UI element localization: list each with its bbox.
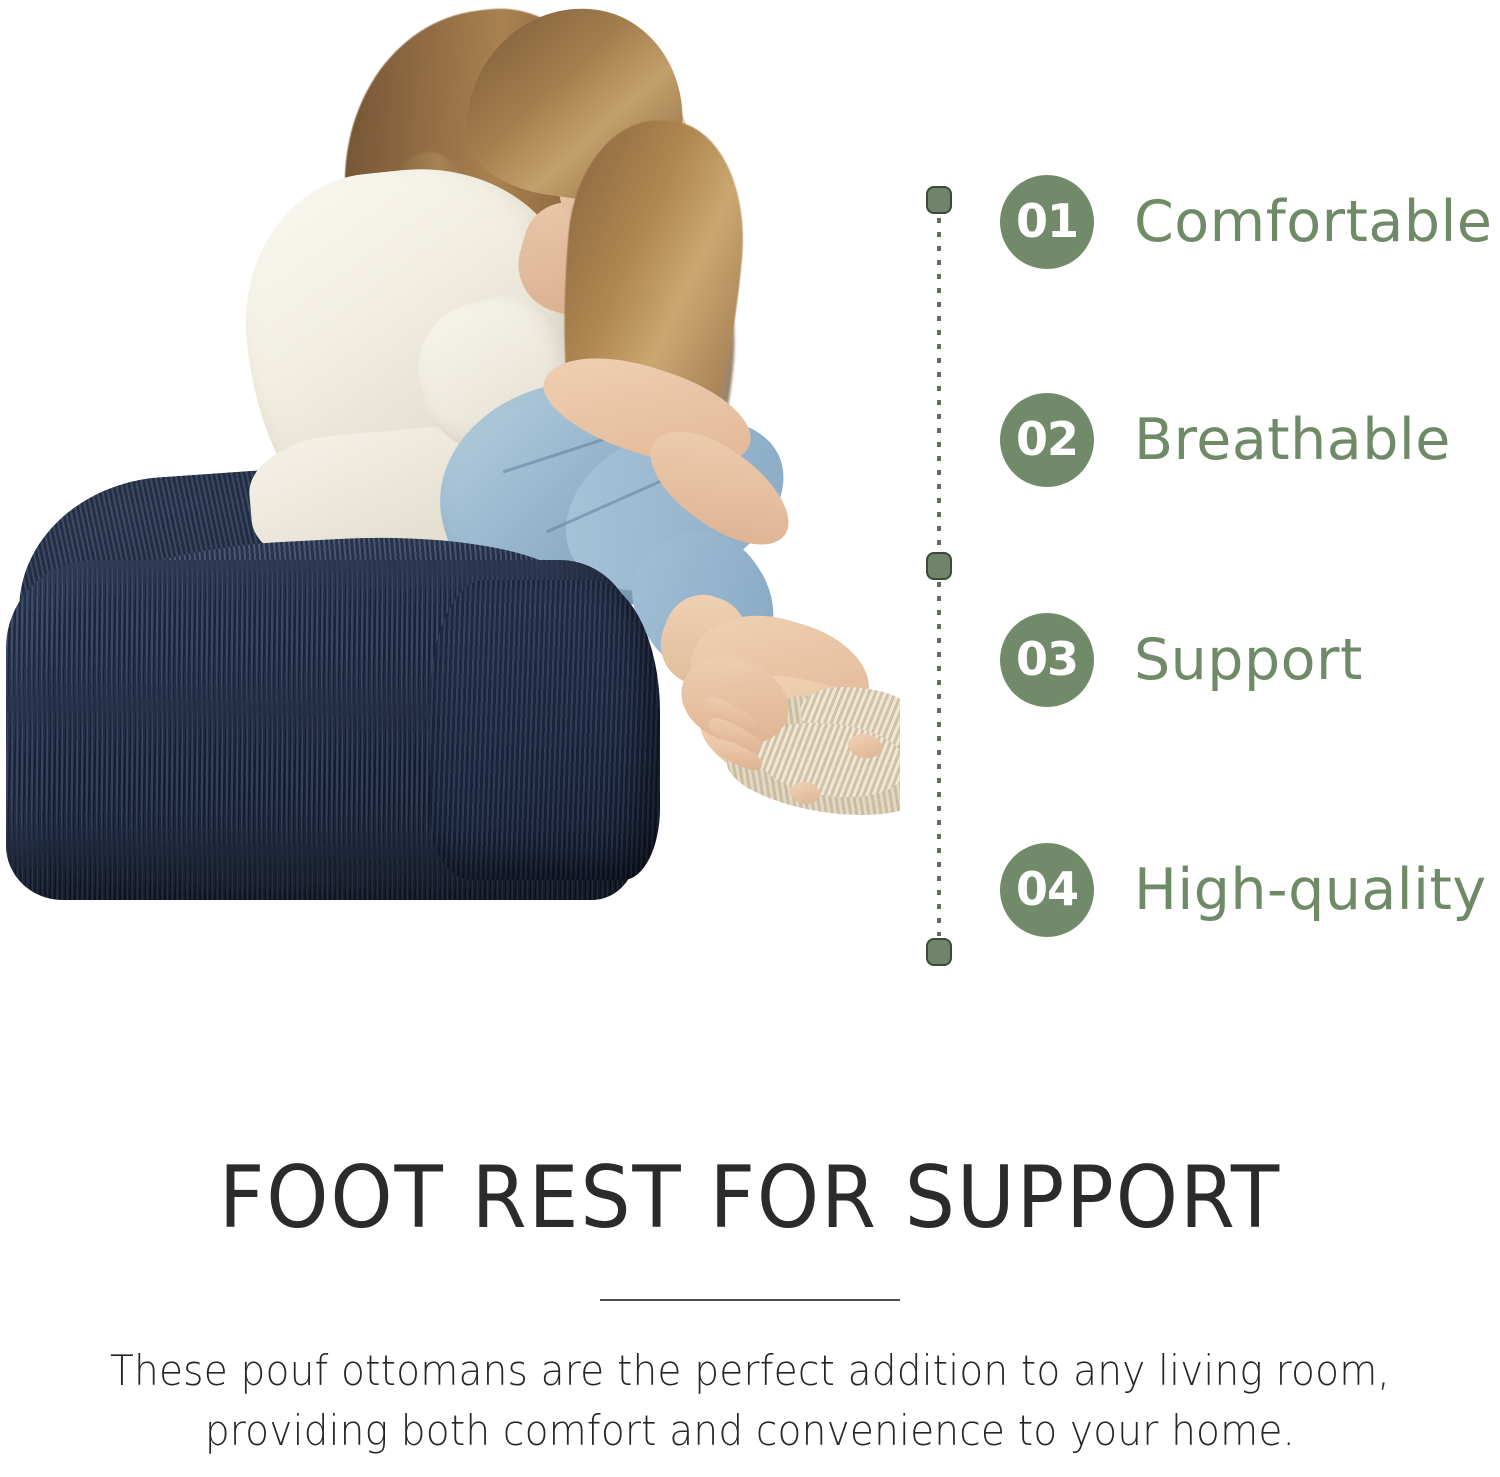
feature-item-comfortable: 01 Comfortable (1000, 174, 1492, 270)
feature-number-badge: 01 (1000, 175, 1094, 269)
feature-item-breathable: 02 Breathable (1000, 392, 1451, 488)
product-photo (0, 0, 900, 1010)
divider (600, 1299, 900, 1301)
feature-label: Support (1134, 632, 1363, 689)
pouf-floor-shadow (40, 862, 580, 898)
timeline-node-top (926, 186, 952, 214)
bottom-text-section: FOOT REST FOR SUPPORT These pouf ottoman… (0, 1030, 1500, 1477)
hero-section: 01 Comfortable 02 Breathable 03 Support … (0, 0, 1500, 1030)
feature-number-badge: 04 (1000, 843, 1094, 937)
feature-item-high-quality: 04 High-quality (1000, 842, 1487, 938)
feature-number-badge: 03 (1000, 613, 1094, 707)
feature-number-badge: 02 (1000, 393, 1094, 487)
pouf-right-side (430, 580, 660, 880)
feature-label: High-quality (1134, 862, 1487, 919)
page-title: FOOT REST FOR SUPPORT (60, 1030, 1440, 1241)
timeline-connector (924, 186, 954, 954)
feature-label: Comfortable (1134, 194, 1492, 251)
feature-item-support: 03 Support (1000, 612, 1363, 708)
feature-list: 01 Comfortable 02 Breathable 03 Support … (900, 0, 1500, 1030)
timeline-node-bottom (926, 938, 952, 966)
description-text: These pouf ottomans are the perfect addi… (99, 1341, 1401, 1460)
feature-label: Breathable (1134, 412, 1451, 469)
timeline-node-middle (926, 552, 952, 580)
